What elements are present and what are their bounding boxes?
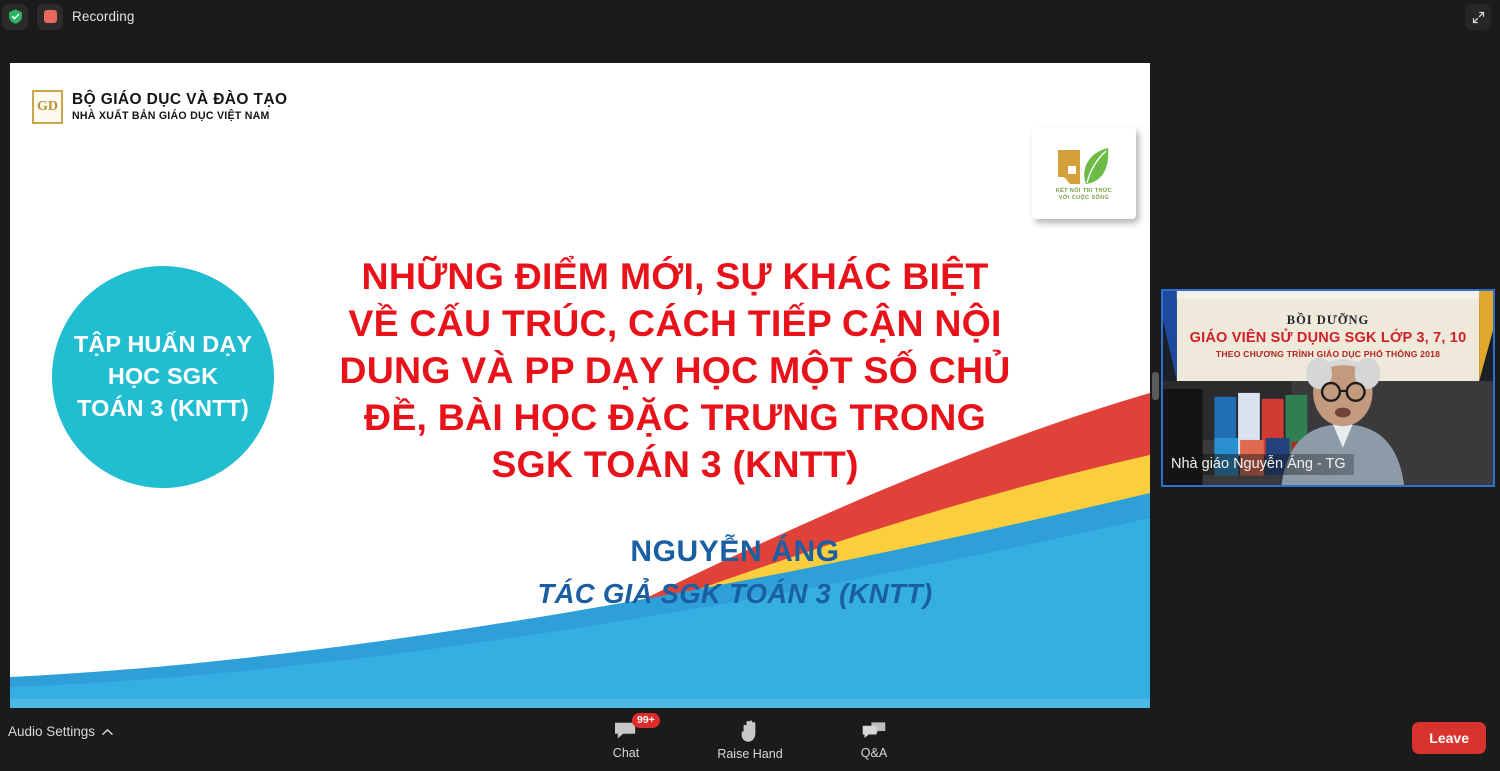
slide-title-line4: ĐỀ, BÀI HỌC ĐẶC TRƯNG TRONG	[310, 394, 1040, 441]
recording-indicator-button[interactable]	[37, 4, 63, 30]
moet-emblem-icon: GD	[32, 90, 63, 124]
video-backdrop-banner: BỒI DƯỠNG GIÁO VIÊN SỬ DỤNG SGK LỚP 3, 7…	[1163, 291, 1493, 379]
slide-title: NHỮNG ĐIỂM MỚI, SỰ KHÁC BIỆT VỀ CẤU TRÚC…	[310, 253, 1040, 487]
shared-screen-slide[interactable]: GD BỘ GIÁO DỤC VÀ ĐÀO TẠO NHÀ XUẤT BẢN G…	[10, 63, 1150, 708]
author-name: NGUYỄN ÁNG	[450, 535, 1020, 569]
leave-button[interactable]: Leave	[1412, 722, 1486, 754]
participant-name-label: Nhà giáo Nguyễn Áng - TG	[1163, 454, 1354, 475]
slide-title-line5: SGK TOÁN 3 (KNTT)	[310, 441, 1040, 488]
qa-button[interactable]: Q&A	[834, 720, 914, 760]
recording-label: Recording	[72, 9, 134, 24]
slide-author-block: NGUYỄN ÁNG TÁC GIẢ SGK TOÁN 3 (KNTT)	[450, 535, 1020, 610]
book-leaf-icon	[1054, 144, 1114, 188]
moet-logo-line1: BỘ GIÁO DỤC VÀ ĐÀO TẠO	[72, 91, 287, 108]
slide-title-line2: VỀ CẤU TRÚC, CÁCH TIẾP CẬN NỘI	[310, 300, 1040, 347]
kntt-series-logo: KẾT NỐI TRI THỨC VỚI CUỘC SỐNG	[1032, 127, 1136, 219]
chat-button[interactable]: 99+ Chat	[586, 720, 666, 760]
moet-logo-line2: NHÀ XUẤT BẢN GIÁO DỤC VIỆT NAM	[72, 110, 287, 123]
chat-label: Chat	[613, 746, 639, 760]
expand-fullscreen-icon	[1471, 10, 1486, 25]
circle-line1: TẬP HUẤN DẠY	[74, 329, 252, 361]
author-role: TÁC GIẢ SGK TOÁN 3 (KNTT)	[450, 578, 1020, 610]
expand-fullscreen-button[interactable]	[1465, 4, 1491, 30]
participant-video-tile[interactable]: BỒI DƯỠNG GIÁO VIÊN SỬ DỤNG SGK LỚP 3, 7…	[1161, 289, 1495, 487]
qa-label: Q&A	[861, 746, 887, 760]
qa-bubbles-icon	[861, 720, 887, 742]
raised-hand-icon	[738, 719, 762, 743]
training-badge-circle: TẬP HUẤN DẠY HỌC SGK TOÁN 3 (KNTT)	[52, 266, 274, 488]
circle-line2: HỌC SGK	[108, 361, 218, 393]
raise-hand-button[interactable]: Raise Hand	[710, 719, 790, 761]
kntt-logo-line2: VỚI CUỘC SỐNG	[1059, 195, 1109, 202]
top-status-bar: Recording	[0, 0, 1500, 33]
kntt-logo-line1: KẾT NỐI TRI THỨC	[1056, 188, 1112, 195]
publisher-logo: GD BỘ GIÁO DỤC VÀ ĐÀO TẠO NHÀ XUẤT BẢN G…	[32, 90, 287, 124]
raise-hand-label: Raise Hand	[717, 747, 782, 761]
meeting-controls-bar: Audio Settings 99+ Chat Raise Hand	[0, 708, 1500, 771]
chat-unread-badge: 99+	[632, 713, 660, 729]
panel-resize-handle[interactable]	[1152, 372, 1159, 400]
slide-title-line1: NHỮNG ĐIỂM MỚI, SỰ KHÁC BIỆT	[310, 253, 1040, 300]
banner-line3: THEO CHƯƠNG TRÌNH GIÁO DỤC PHỔ THÔNG 201…	[1163, 349, 1493, 359]
banner-line1: BỒI DƯỠNG	[1163, 313, 1493, 328]
shield-check-icon	[7, 8, 24, 25]
slide-title-line3: DUNG VÀ PP DẠY HỌC MỘT SỐ CHỦ	[310, 347, 1040, 394]
banner-line2: GIÁO VIÊN SỬ DỤNG SGK LỚP 3, 7, 10	[1163, 330, 1493, 346]
recording-icon	[44, 10, 57, 23]
circle-line3: TOÁN 3 (KNTT)	[77, 393, 249, 425]
zoom-meeting-window: Recording GD BỘ GIÁO DỤC VÀ ĐÀO TẠO NH	[0, 0, 1500, 771]
encryption-shield-button[interactable]	[2, 4, 28, 30]
center-control-group: 99+ Chat Raise Hand Q&A	[0, 708, 1500, 771]
